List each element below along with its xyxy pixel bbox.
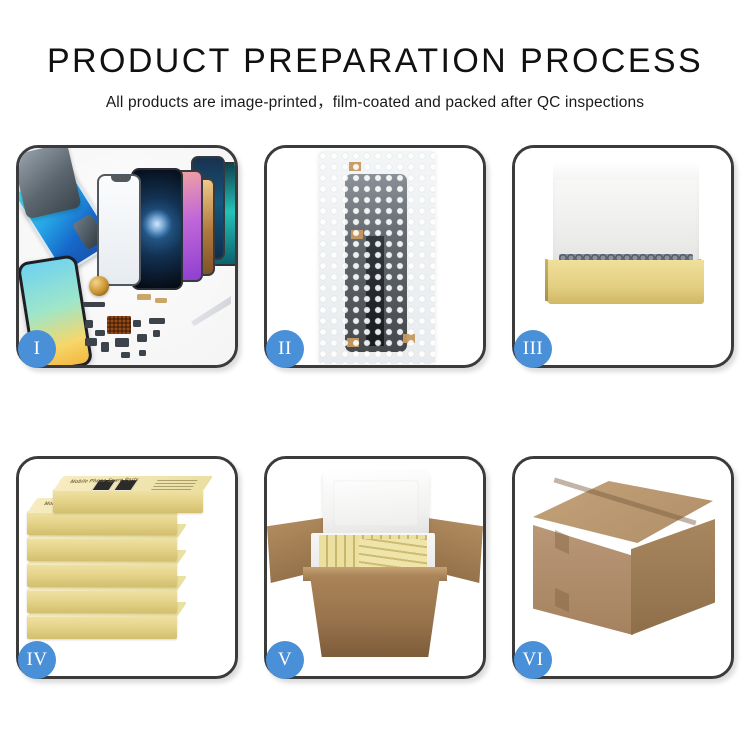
product-preparation-page: PRODUCT PREPARATION PROCESS All products… bbox=[0, 0, 750, 750]
step-badge-4: IV bbox=[18, 641, 56, 679]
step-image-6 bbox=[515, 459, 731, 676]
process-steps-grid: I II bbox=[16, 145, 734, 679]
step-panel-6: VI bbox=[512, 456, 734, 679]
page-title: PRODUCT PREPARATION PROCESS bbox=[0, 44, 750, 80]
screen-glass-panel bbox=[97, 174, 141, 286]
yellow-boxes-row bbox=[359, 539, 427, 569]
step-image-5 bbox=[267, 459, 483, 676]
bubble-wrap-bag bbox=[319, 152, 435, 364]
carton-body bbox=[301, 575, 449, 657]
phone-back-housing bbox=[19, 148, 82, 219]
step-image-2 bbox=[267, 148, 483, 365]
yellow-inner-box bbox=[548, 260, 704, 304]
step-panel-5: V bbox=[264, 456, 486, 679]
page-header: PRODUCT PREPARATION PROCESS All products… bbox=[0, 0, 750, 112]
step-badge-3: III bbox=[514, 330, 552, 368]
small-parts-group bbox=[81, 290, 193, 364]
box-stack: Mobile Phone Spare Parts Mobile Phone Sp… bbox=[27, 475, 227, 661]
step-panel-2: II bbox=[264, 145, 486, 368]
step-image-4: Mobile Phone Spare Parts Mobile Phone Sp… bbox=[19, 459, 235, 676]
step-panel-4: Mobile Phone Spare Parts Mobile Phone Sp… bbox=[16, 456, 238, 679]
step-badge-5: V bbox=[266, 641, 304, 679]
foam-box-lid bbox=[323, 471, 429, 537]
step-badge-2: II bbox=[266, 330, 304, 368]
step-panel-1: I bbox=[16, 145, 238, 368]
page-subtitle: All products are image-printed，film-coat… bbox=[0, 90, 750, 112]
carton-front-face bbox=[533, 525, 633, 635]
step-panel-3: III bbox=[512, 145, 734, 368]
step-badge-6: VI bbox=[514, 641, 552, 679]
white-foam-lid bbox=[553, 162, 699, 266]
step-image-1 bbox=[19, 148, 235, 365]
step-badge-1: I bbox=[18, 330, 56, 368]
step-image-3 bbox=[515, 148, 731, 365]
tweezers-tool bbox=[191, 296, 231, 326]
bubble-texture bbox=[319, 152, 435, 364]
